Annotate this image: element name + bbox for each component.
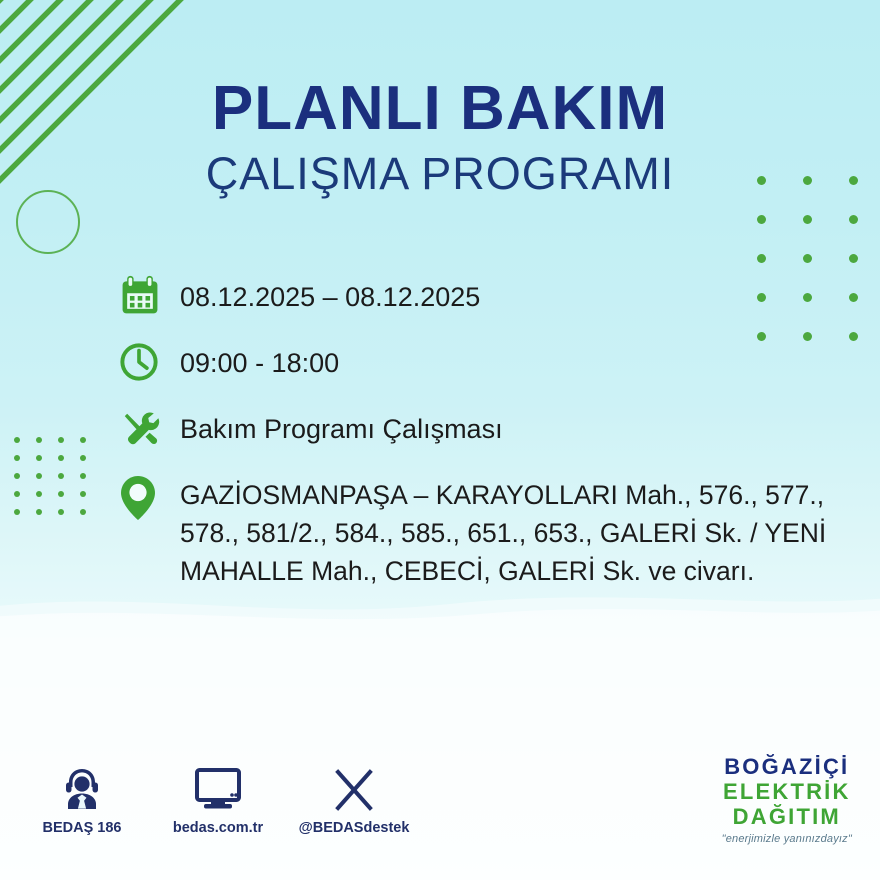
brand-tagline: "enerjimizle yanınızdayız" [722, 834, 852, 845]
x-twitter-icon [331, 760, 377, 812]
detail-row-worktype: Bakım Programı Çalışması [118, 404, 878, 452]
work-type-text: Bakım Programı Çalışması [180, 404, 503, 448]
calendar-icon [118, 272, 180, 320]
monitor-icon [194, 760, 242, 812]
support-agent-icon [60, 760, 104, 812]
maintenance-details: 08.12.2025 – 08.12.2025 09:00 - 18:00 [118, 272, 878, 608]
brand-logo: BOĞAZİÇİ ELEKTRİK DAĞITIM "enerjimizle y… [722, 756, 852, 845]
detail-row-location: GAZİOSMANPAŞA – KARAYOLLARI Mah., 576., … [118, 470, 878, 590]
detail-row-time: 09:00 - 18:00 [118, 338, 878, 386]
page-title: PLANLI BAKIM [0, 78, 880, 140]
contact-phone[interactable]: BEDAŞ 186 [34, 760, 130, 836]
planned-maintenance-poster: PLANLI BAKIM ÇALIŞMA PROGRAMI [0, 0, 880, 880]
brand-line-2: ELEKTRİK [722, 781, 852, 803]
clock-icon [118, 338, 180, 386]
contact-channels: BEDAŞ 186 bedas.com.tr [34, 760, 402, 836]
contact-phone-label: BEDAŞ 186 [43, 820, 122, 836]
contact-website[interactable]: bedas.com.tr [170, 760, 266, 836]
date-range-text: 08.12.2025 – 08.12.2025 [180, 272, 480, 316]
brand-line-3: DAĞITIM [722, 806, 852, 828]
location-pin-icon [118, 470, 180, 522]
poster-header: PLANLI BAKIM ÇALIŞMA PROGRAMI [0, 78, 880, 197]
contact-x-account[interactable]: @BEDASdestek [306, 760, 402, 836]
contact-x-label: @BEDASdestek [299, 820, 410, 836]
detail-row-date: 08.12.2025 – 08.12.2025 [118, 272, 878, 320]
page-subtitle: ÇALIŞMA PROGRAMI [0, 150, 880, 197]
address-text: GAZİOSMANPAŞA – KARAYOLLARI Mah., 576., … [180, 470, 878, 590]
time-range-text: 09:00 - 18:00 [180, 338, 339, 382]
tools-icon [118, 404, 180, 452]
dot-grid-left-decoration [14, 437, 102, 527]
contact-website-label: bedas.com.tr [173, 820, 263, 836]
poster-footer: BEDAŞ 186 bedas.com.tr [0, 750, 880, 880]
brand-line-1: BOĞAZİÇİ [722, 756, 852, 778]
circle-outline-decoration [16, 190, 80, 254]
